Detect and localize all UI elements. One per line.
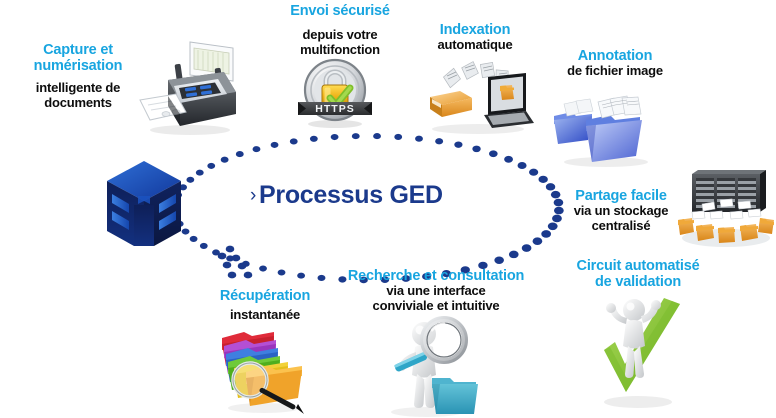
step-heading-line1: Récupération <box>195 288 335 304</box>
step-heading-line2: numérisation <box>8 58 148 74</box>
documents-to-laptop-icon <box>422 55 534 137</box>
step-heading-line1: Annotation <box>540 48 690 64</box>
step-label-circuit: Circuit automatisé de validation <box>548 258 728 290</box>
https-padlock-badge-icon: HTTPS <box>292 58 378 130</box>
step-heading-line1: Indexation <box>415 22 535 38</box>
step-sub-line1: depuis votre <box>265 28 415 43</box>
step-heading-line1: Partage facile <box>556 188 686 204</box>
step-label-recuperation: Récupération instantanée <box>195 288 335 323</box>
blue-folders-documents-icon <box>548 88 660 168</box>
https-badge-text: HTTPS <box>315 103 354 115</box>
step-sub-line1: instantanée <box>195 308 335 323</box>
step-label-capture: Capture et numérisation intelligente de … <box>8 42 148 111</box>
document-scanner-icon <box>132 34 242 138</box>
isometric-cube-logo <box>104 158 184 250</box>
step-label-envoi: Envoi sécurisé depuis votre multifonctio… <box>265 3 415 57</box>
chevron-right-icon: › <box>250 185 256 206</box>
step-sub-line1: de fichier image <box>540 64 690 79</box>
step-heading-line1: Capture et <box>8 42 148 58</box>
step-sub-line1: via un stockage <box>556 204 686 219</box>
colored-folders-magnifier-icon <box>212 324 316 416</box>
step-sub-line1: via une interface <box>336 284 536 299</box>
center-title: ›Processus GED <box>250 181 443 210</box>
step-sub-line2: documents <box>8 96 148 111</box>
figure-magnifier-folder-icon <box>372 312 482 418</box>
step-heading-line1: Recherche et consultation <box>336 268 536 284</box>
server-rack-shared-folders-icon <box>676 168 776 250</box>
step-sub-line1: automatique <box>415 38 535 53</box>
step-heading-line1: Envoi sécurisé <box>265 3 415 19</box>
step-sub-line1: intelligente de <box>8 81 148 96</box>
step-sub-line2: centralisé <box>556 219 686 234</box>
ged-process-diagram: ›Processus GED Capture et numérisation i… <box>0 0 776 418</box>
step-label-indexation: Indexation automatique <box>415 22 535 53</box>
step-label-annotation: Annotation de fichier image <box>540 48 690 79</box>
step-sub-line2: multifonction <box>265 43 415 58</box>
step-heading-line1: Circuit automatisé <box>548 258 728 274</box>
step-label-recherche: Recherche et consultation via une interf… <box>336 268 536 313</box>
figure-on-green-check-icon <box>588 292 688 410</box>
step-label-partage: Partage facile via un stockage centralis… <box>556 188 686 233</box>
center-title-text: Processus GED <box>259 181 443 209</box>
step-heading-line2: de validation <box>548 274 728 290</box>
